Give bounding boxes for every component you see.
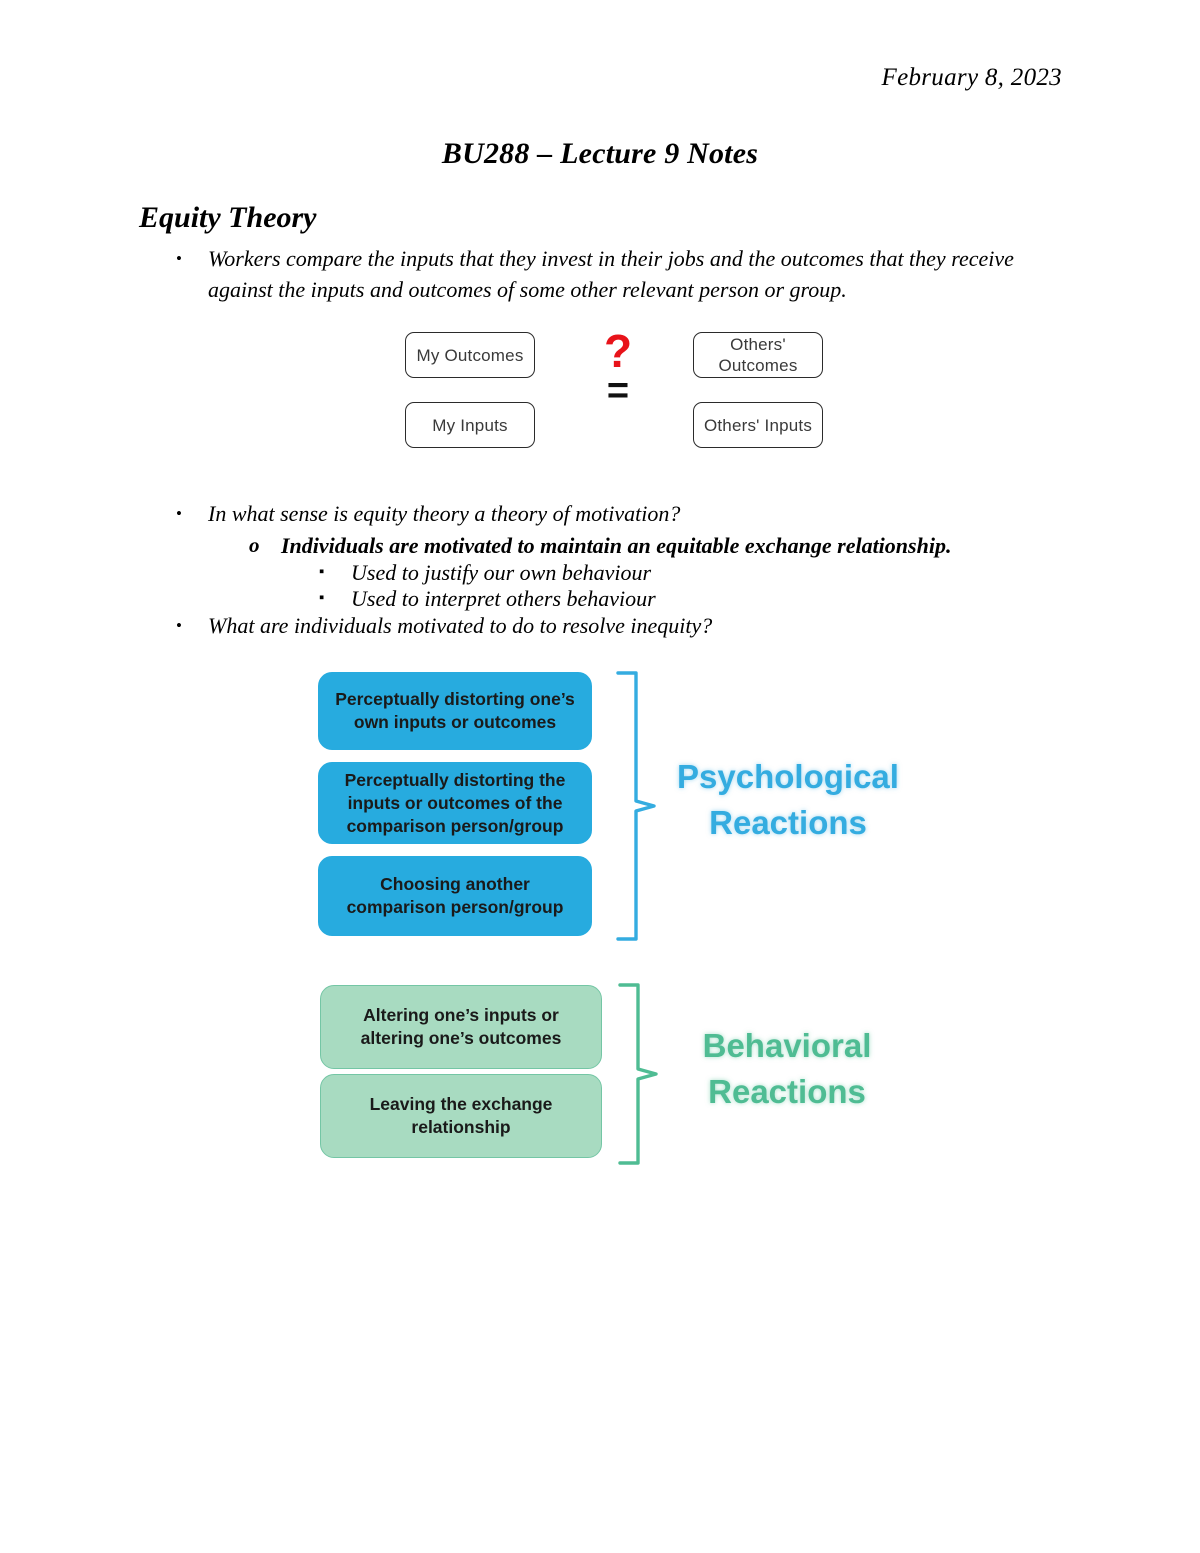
reaction-box: Perceptually distorting one’s own inputs… xyxy=(318,672,592,750)
bullet-marker-icon: • xyxy=(176,498,208,529)
bullet-text: What are individuals motivated to do to … xyxy=(208,610,1006,641)
reaction-box: Altering one’s inputs or altering one’s … xyxy=(320,985,602,1069)
section-heading-equity-theory: Equity Theory xyxy=(139,201,317,235)
curly-brace-icon xyxy=(614,670,660,942)
reaction-box: Perceptually distorting the inputs or ou… xyxy=(318,762,592,844)
reaction-box: Leaving the exchange relationship xyxy=(320,1074,602,1158)
ratio-box-my-inputs: My Inputs xyxy=(405,402,535,448)
ratio-box-my-outcomes: My Outcomes xyxy=(405,332,535,378)
ratio-box-others-outcomes: Others' Outcomes xyxy=(693,332,823,378)
bullet-item: • What are individuals motivated to do t… xyxy=(176,610,1006,641)
page-title: BU288 – Lecture 9 Notes xyxy=(0,137,1200,171)
ratio-box-others-inputs: Others' Inputs xyxy=(693,402,823,448)
bullet-marker-icon: • xyxy=(176,243,208,274)
bullet-marker-icon: o xyxy=(249,530,281,561)
behavioral-reactions-diagram: Altering one’s inputs or altering one’s … xyxy=(320,985,920,1161)
curly-brace-icon xyxy=(616,981,662,1167)
group-label: Behavioral Reactions xyxy=(662,1023,912,1115)
equals-sign-icon: = xyxy=(593,372,643,410)
bullet-item: • Workers compare the inputs that they i… xyxy=(176,243,1026,305)
bullet-marker-icon: • xyxy=(176,610,208,641)
psychological-reactions-diagram: Perceptually distorting one’s own inputs… xyxy=(318,672,918,942)
document-date: February 8, 2023 xyxy=(882,64,1062,92)
document-page: February 8, 2023 BU288 – Lecture 9 Notes… xyxy=(0,0,1200,1553)
bullet-text: In what sense is equity theory a theory … xyxy=(208,498,1006,529)
bullet-text: Workers compare the inputs that they inv… xyxy=(208,243,1026,305)
question-mark-icon: ? xyxy=(593,328,643,374)
bullet-item: • In what sense is equity theory a theor… xyxy=(176,498,1006,529)
reaction-box: Choosing another comparison person/group xyxy=(318,856,592,936)
equity-ratio-diagram: My Outcomes My Inputs Others' Outcomes O… xyxy=(405,330,825,455)
group-label: Psychological Reactions xyxy=(658,754,918,846)
